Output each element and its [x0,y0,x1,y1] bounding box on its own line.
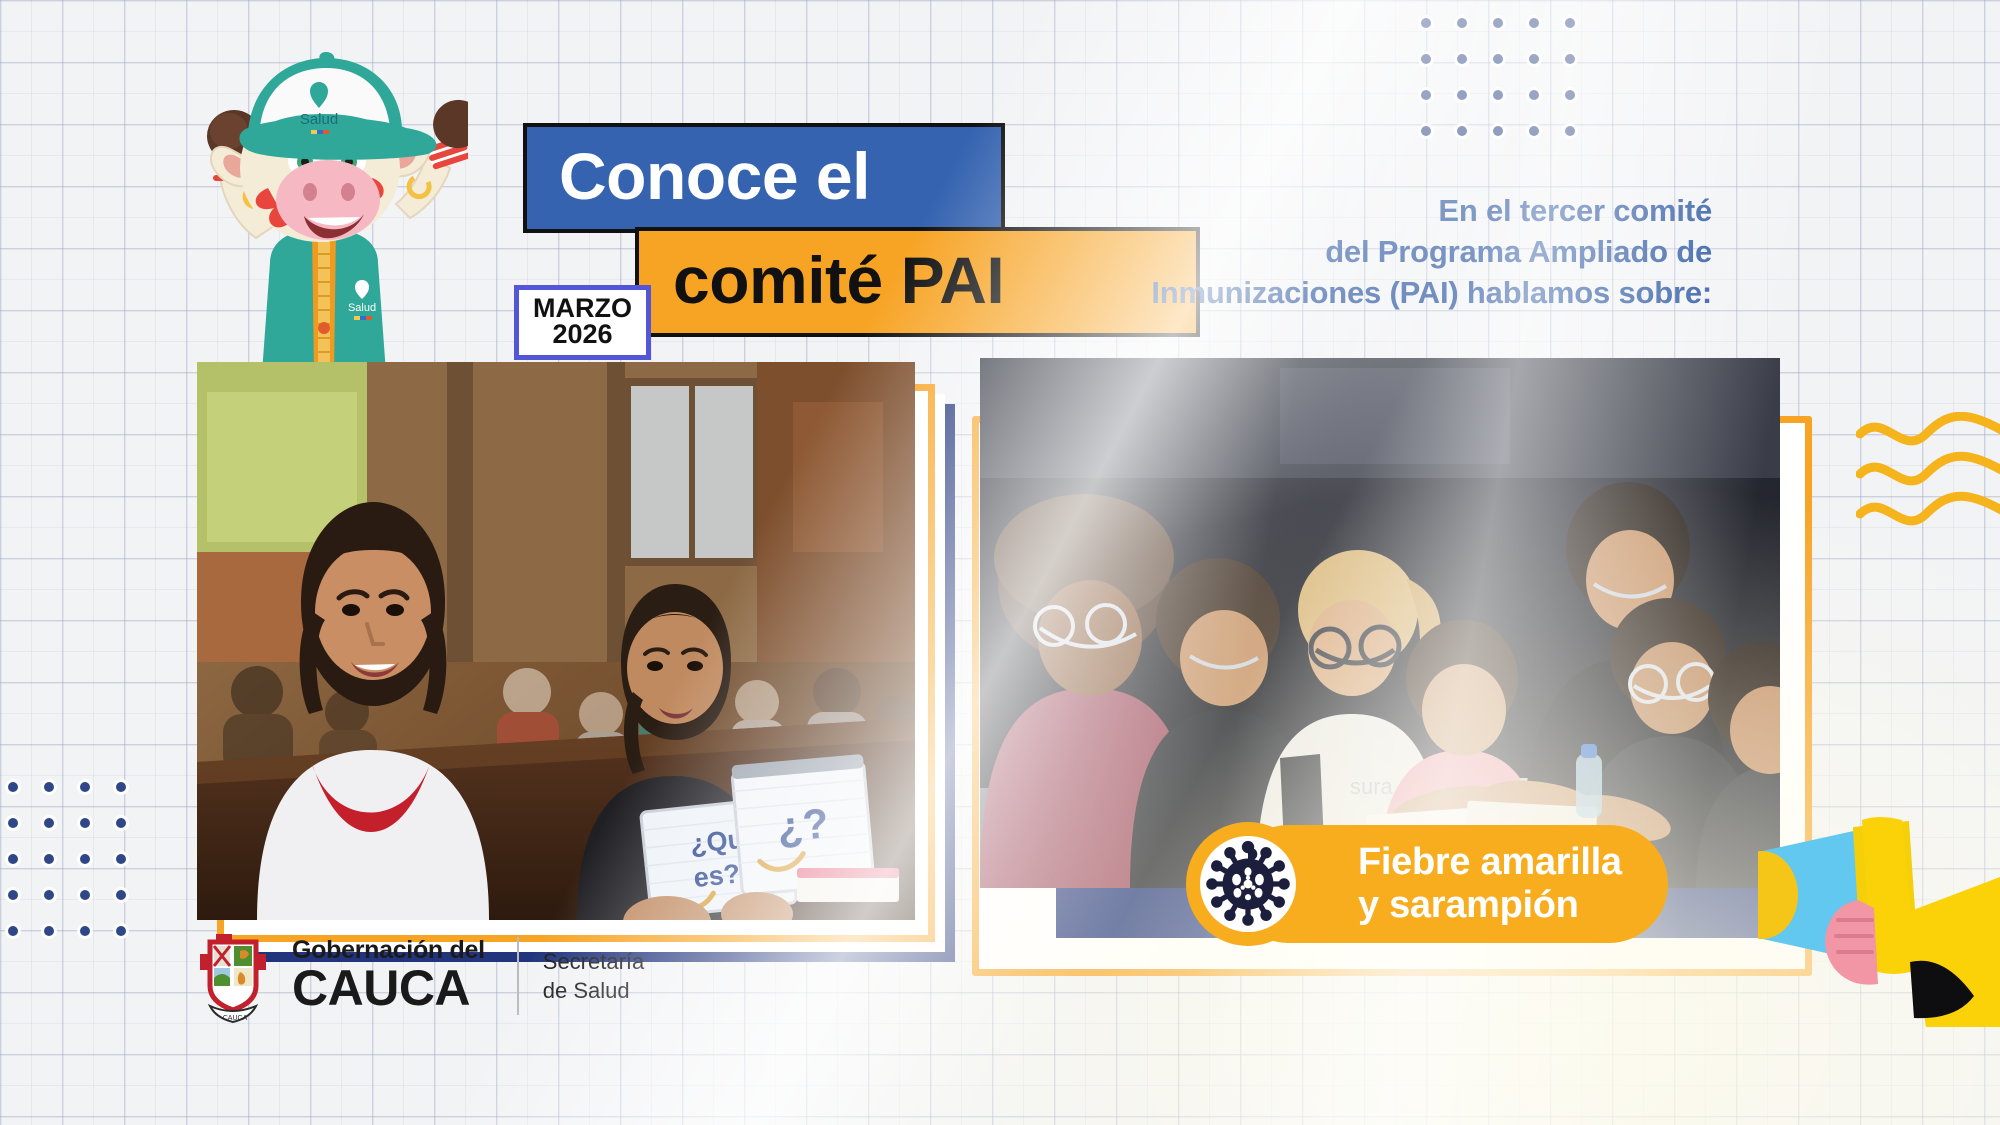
lead-text-line-2: del Programa Ampliado de [1151,231,1712,272]
decor-dot [1493,90,1503,100]
svg-text:Salud: Salud [300,111,338,128]
poster-canvas: Salud [0,0,2000,1125]
decor-dot [1457,18,1467,28]
topic-badge-line-2: y sarampión [1358,884,1579,926]
decor-dot [44,926,54,936]
decor-dot [1457,126,1467,136]
crest-motto: CAUCA [223,1015,248,1022]
lead-text-line-3: Inmunizaciones (PAI) hablamos sobre: [1151,272,1712,313]
date-badge-month: MARZO [533,295,632,321]
svg-text:¿?: ¿? [775,799,830,850]
megaphone-icon [1758,812,2000,1027]
virus-icon-ring [1186,822,1310,946]
decor-dot [1493,54,1503,64]
decor-dot [80,782,90,792]
decor-wave-lines [1856,412,2000,542]
decor-dot [1493,126,1503,136]
decor-dot [1421,54,1431,64]
virus-icon-disc [1200,836,1296,932]
decor-dot [116,854,126,864]
decor-dot [8,818,18,828]
decor-dot [1529,126,1539,136]
decor-dot [1529,54,1539,64]
topic-badge-line-1: Fiebre amarilla [1358,841,1622,883]
gobernacion-line-2: CAUCA [292,965,485,1013]
svg-text:sura: sura [1350,774,1394,799]
decor-dot [8,854,18,864]
gobernacion-wordmark: Gobernación del CAUCA [292,939,485,1012]
decor-dot [116,926,126,936]
decor-dot [1421,18,1431,28]
decor-dot [44,890,54,900]
decor-dot [80,890,90,900]
date-badge: MARZO 2026 [514,285,651,360]
decor-dot [44,782,54,792]
decor-dot [80,818,90,828]
decor-dot [116,782,126,792]
footer-logo: CAUCA Gobernación del CAUCA Secretaría d… [196,928,644,1024]
secretaria-line-1: Secretaría [543,947,645,976]
decor-dot [1421,126,1431,136]
photo-right: sura [980,358,1780,888]
cauca-coat-of-arms-icon: CAUCA [196,928,274,1024]
title-line-conoce-el: Conoce el [523,123,1005,233]
secretaria-wordmark: Secretaría de Salud [543,947,645,1005]
decor-dot [1565,126,1575,136]
vaca-salud-mascot: Salud [128,28,468,373]
decor-dot [8,782,18,792]
lead-text: En el tercer comité del Programa Ampliad… [1151,190,1712,314]
photo-left: ¿Qué es? ¿? [197,362,915,920]
secretaria-line-2: de Salud [543,976,645,1005]
decor-dot [1529,90,1539,100]
decor-dot [1493,18,1503,28]
virus-icon [1204,840,1292,928]
decor-dot [1457,90,1467,100]
logo-divider [517,937,519,1015]
decor-dot [1565,54,1575,64]
decor-dot [80,926,90,936]
decor-dot-grid-bottom-left [8,782,152,962]
lead-text-line-1: En el tercer comité [1151,190,1712,231]
decor-dot [116,890,126,900]
title-line-comite-pai: comité PAI [635,227,1200,337]
decor-dot [1565,18,1575,28]
decor-dot [8,890,18,900]
date-badge-year: 2026 [533,321,632,347]
topic-badge: Fiebre amarilla y sarampión [1186,822,1668,946]
decor-dot-grid-top-right [1421,18,1601,162]
photo-left-composition: ¿Qué es? ¿? [197,362,957,962]
decor-dot [44,818,54,828]
decor-dot [8,926,18,936]
svg-text:Salud: Salud [348,302,376,314]
decor-dot [1565,90,1575,100]
svg-text:es?: es? [692,858,741,893]
decor-dot [116,818,126,828]
decor-dot [1457,54,1467,64]
decor-dot [1421,90,1431,100]
decor-dot [1529,18,1539,28]
decor-dot [44,854,54,864]
decor-dot [80,854,90,864]
